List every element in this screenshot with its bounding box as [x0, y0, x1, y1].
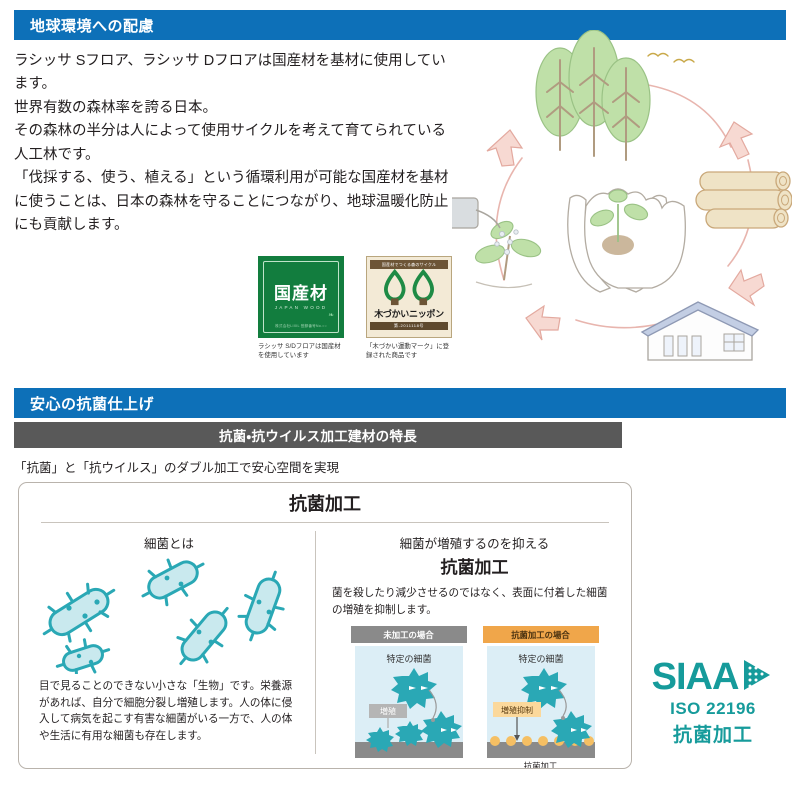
paragraph: 「伐採する、使う、植える」という循環利用が可能な国産材を基材に使うことは、日本の…: [14, 167, 454, 237]
leaf-icon: ❧: [328, 311, 334, 319]
right-column-heading: 細菌が増殖するのを抑える: [332, 533, 617, 552]
cert-kizukai-nippon: 国産材でつくる森のサイクル 木づかいニッポン 第-2011118号 「木づかい運…: [366, 256, 452, 361]
diagram-body: 特定の細菌: [483, 646, 599, 758]
diagram-treated: 抗菌加工の場合 特定の細菌: [483, 626, 599, 769]
svg-text:増殖抑制: 増殖抑制: [501, 705, 533, 715]
siaa-logo: SIAA ISO 22196 抗菌加工: [648, 658, 778, 747]
japan-wood-footer: 株式会社LIXIL 登録番号No.○○: [275, 324, 327, 329]
section2-lead-text: 「抗菌」と「抗ウイルス」のダブル加工で安心空間を実現: [14, 457, 800, 476]
diagram-caption: 抗菌加工の場合: [483, 626, 599, 643]
certification-logos: 国産材 JAPAN WOOD ❧ 株式会社LIXIL 登録番号No.○○ ラシッ…: [258, 256, 452, 361]
siaa-japanese-label: 抗菌加工: [648, 720, 778, 747]
section2-subheader-bar: 抗菌・抗ウイルス加工建材の特長: [14, 422, 622, 448]
logs-node: [696, 172, 792, 228]
panel-left-column: 細菌とは: [19, 523, 315, 768]
panel-right-column: 細菌が増殖するのを抑える 抗菌加工 菌を殺したり減少させるのではなく、表面に付着…: [316, 523, 631, 768]
section2-header-label: 安心の抗菌仕上げ: [14, 393, 154, 414]
paragraph: その森林の半分は人によって使用サイクルを考えて育てられている人工林です。: [14, 120, 454, 167]
kizukai-number: 第-2011118号: [370, 322, 448, 330]
house-node: [642, 302, 758, 360]
diagram-untreated: 未加工の場合 特定の細菌: [351, 626, 467, 769]
diagram-body: 特定の細菌: [351, 646, 467, 758]
section2-subheader-label: 抗菌・抗ウイルス加工建材の特長: [219, 425, 417, 445]
bacteria-illustration: [39, 554, 299, 674]
section1-body-copy: ラシッサ Sフロア、ラシッサ Dフロアは国産材を基材に使用しています。 世界有数…: [14, 50, 454, 238]
section-earth-environment: 地球環境への配慮 ラシッサ Sフロア、ラシッサ Dフロアは国産材を基材に使用して…: [0, 0, 800, 380]
japan-wood-kanji: 国産材: [274, 285, 328, 302]
diagram-caption: 未加工の場合: [351, 626, 467, 643]
cert-caption: 「木づかい運動マーク」に登録された商品です: [366, 342, 452, 361]
panel-title: 抗菌加工: [19, 483, 631, 522]
svg-text:特定の細菌: 特定の細菌: [518, 653, 563, 664]
kizukai-tree-icon: [370, 269, 448, 307]
cert-japan-wood: 国産材 JAPAN WOOD ❧ 株式会社LIXIL 登録番号No.○○ ラシッ…: [258, 256, 344, 361]
kizukai-name: 木づかいニッポン: [370, 307, 448, 320]
siaa-arrow-icon: [740, 658, 774, 697]
antibacterial-panel: 抗菌加工 細菌とは: [18, 482, 632, 769]
kizukai-nippon-mark: 国産材でつくる森のサイクル 木づかいニッポン 第-2011118号: [366, 256, 452, 338]
right-column-text: 菌を殺したり減少させるのではなく、表面に付着した細菌の増殖を抑制します。: [332, 585, 617, 618]
section2-header-bar: 安心の抗菌仕上げ: [14, 388, 786, 418]
left-column-heading: 細菌とは: [39, 533, 299, 552]
paragraph: ラシッサ Sフロア、ラシッサ Dフロアは国産材を基材に使用しています。: [14, 50, 454, 97]
diagram-footer: 抗菌加工: [483, 760, 599, 769]
forest-cycle-illustration: [452, 30, 792, 375]
svg-text:特定の細菌: 特定の細菌: [386, 653, 431, 664]
left-column-text: 目で見ることのできない小さな「生物」です。栄養源があれば、自分で細胞分裂し増殖し…: [39, 678, 299, 745]
kizukai-top-text: 国産材でつくる森のサイクル: [370, 260, 448, 269]
trees-node: [536, 30, 650, 160]
siaa-wordmark: SIAA: [652, 660, 739, 694]
japan-wood-english: JAPAN WOOD: [275, 305, 328, 310]
right-column-heading-big: 抗菌加工: [332, 553, 617, 578]
svg-text:増殖: 増殖: [380, 706, 396, 716]
siaa-standard: ISO 22196: [648, 699, 778, 719]
section1-header-label: 地球環境への配慮: [14, 15, 154, 36]
japan-wood-mark: 国産材 JAPAN WOOD ❧ 株式会社LIXIL 登録番号No.○○: [258, 256, 344, 338]
paragraph: 世界有数の森林率を誇る日本。: [14, 97, 454, 120]
section-antibacterial-finish: 安心の抗菌仕上げ 抗菌・抗ウイルス加工建材の特長 「抗菌」と「抗ウイルス」のダブ…: [0, 388, 800, 769]
birds: [648, 54, 694, 63]
cert-caption: ラシッサ S/Dフロアは国産材を使用しています: [258, 342, 344, 361]
comparison-diagrams: 未加工の場合 特定の細菌: [332, 626, 617, 769]
